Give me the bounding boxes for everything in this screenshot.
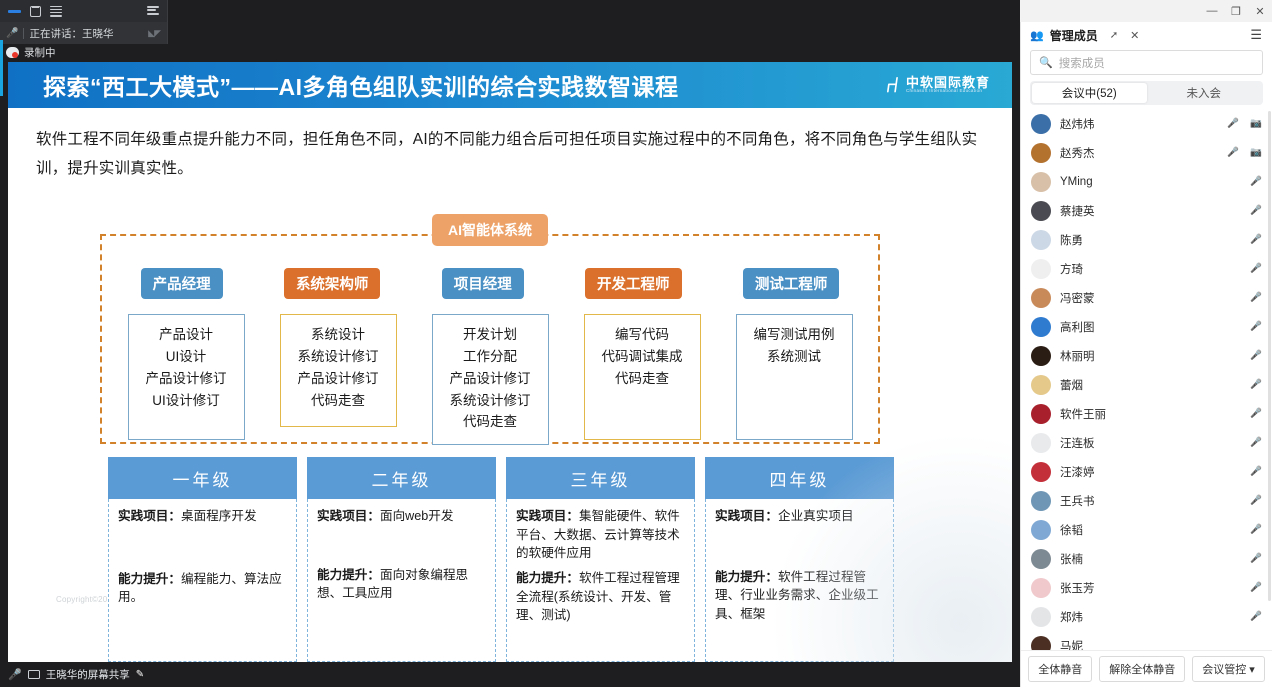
mic-muted-icon[interactable]: 🎤 [1250, 321, 1262, 332]
task-item: 系统设计 [285, 324, 392, 346]
member-name: 王兵书 [1060, 493, 1095, 509]
avatar [1031, 114, 1051, 134]
panel-footer: 全体静音解除全体静音会议管控 ▾ [1021, 650, 1272, 687]
task-item: 系统设计修订 [285, 346, 392, 368]
grade-ability-label: 能力提升： [516, 571, 579, 585]
member-status-icons: 🎤📷 [1227, 118, 1262, 129]
member-name: 郑炜 [1060, 609, 1083, 625]
grade-project-line: 实践项目：企业真实项目 [715, 507, 884, 526]
member-name: 赵炜炜 [1060, 116, 1095, 132]
member-name: 陈勇 [1060, 232, 1083, 248]
mic-muted-icon[interactable]: 🎤 [1250, 524, 1262, 535]
panel-menu-icon[interactable]: ☰ [1250, 27, 1262, 43]
mic-muted-icon[interactable]: 🎤 [1250, 437, 1262, 448]
annotate-pencil-icon[interactable]: ✎ [136, 669, 144, 680]
avatar [1031, 201, 1051, 221]
task-item: 开发计划 [437, 324, 544, 346]
panel-title: 管理成员 [1050, 27, 1098, 44]
avatar [1031, 375, 1051, 395]
task-item: 产品设计修订 [285, 368, 392, 390]
member-list-item[interactable]: 赵炜炜🎤📷 [1021, 109, 1272, 138]
mic-muted-icon[interactable]: 🎤 [1250, 292, 1262, 303]
slide-paragraph: 软件工程不同年级重点提升能力不同，担任角色不同，AI的不同能力组合后可担任项目实… [36, 126, 984, 183]
member-name: 冯密蒙 [1060, 290, 1095, 306]
grade-spacer [715, 532, 884, 568]
avatar [1031, 288, 1051, 308]
mic-muted-icon[interactable]: 🎤 [1250, 611, 1262, 622]
task-item: 代码走查 [589, 368, 696, 390]
panel-header: 👥 管理成员 ➚ ✕ ☰ [1021, 22, 1272, 48]
role-task-box: 系统设计系统设计修订产品设计修订代码走查 [280, 314, 397, 427]
grade-project-line: 实践项目：面向web开发 [317, 507, 486, 526]
member-status-icons: 🎤 [1250, 524, 1262, 535]
grade-card-body: 实践项目：面向web开发能力提升：面向对象编程思想、工具应用 [307, 499, 496, 662]
member-name: 方琦 [1060, 261, 1083, 277]
panel-tab[interactable]: 会议中(52) [1032, 83, 1147, 103]
window-mode-icon[interactable] [30, 6, 41, 17]
member-name: 高利图 [1060, 319, 1095, 335]
recording-indicator[interactable]: 录制中 [6, 45, 56, 60]
member-list-item[interactable]: YMing🎤 [1021, 167, 1272, 196]
panel-tab[interactable]: 未入会 [1147, 83, 1262, 103]
grade-ability-label: 能力提升： [118, 572, 181, 586]
member-name: 赵秀杰 [1060, 145, 1095, 161]
member-list-item[interactable]: 汪漆婷🎤 [1021, 457, 1272, 486]
role-task-row: 产品设计UI设计产品设计修订UI设计修订系统设计系统设计修订产品设计修订代码走查… [102, 314, 878, 445]
member-name: YMing [1060, 176, 1093, 188]
members-panel: 👥 管理成员 ➚ ✕ ☰ 🔍 搜索成员 会议中(52)未入会 赵炜炜🎤📷赵秀杰🎤… [1020, 22, 1272, 687]
member-list-item[interactable]: 高利图🎤 [1021, 312, 1272, 341]
mic-muted-icon[interactable]: 🎤 [1250, 582, 1262, 593]
member-name: 蕾烟 [1060, 377, 1083, 393]
record-dot-icon [6, 47, 19, 58]
mic-muted-icon[interactable]: 🎤 [1250, 553, 1262, 564]
task-item: 编写测试用例 [741, 324, 848, 346]
slide-header: 探索“西工大模式”——AI多角色组队实训的综合实践数智课程 ⑁ 中软国际教育 C… [8, 62, 1012, 108]
search-placeholder: 搜索成员 [1059, 55, 1105, 71]
grade-spacer [317, 532, 486, 566]
grade-card: 一年级实践项目：桌面程序开发能力提升：编程能力、算法应用。 [108, 457, 297, 662]
grade-ability-line: 能力提升：软件工程过程管理、行业业务需求、企业级工具、框架 [715, 568, 884, 624]
member-list-item[interactable]: 林丽明🎤 [1021, 341, 1272, 370]
grade-project-value: 桌面程序开发 [181, 509, 257, 523]
member-list[interactable]: 赵炜炜🎤📷赵秀杰🎤📷YMing🎤蔡捷英🎤陈勇🎤方琦🎤冯密蒙🎤高利图🎤林丽明🎤蕾烟… [1021, 109, 1272, 650]
member-name: 张楠 [1060, 551, 1083, 567]
avatar [1031, 636, 1051, 651]
mic-muted-icon[interactable]: 🎤 [1250, 176, 1262, 187]
grade-card: 四年级实践项目：企业真实项目能力提升：软件工程过程管理、行业业务需求、企业级工具… [705, 457, 894, 662]
avatar [1031, 317, 1051, 337]
popout-icon[interactable]: ➚ [1110, 30, 1118, 41]
member-status-icons: 🎤 [1250, 408, 1262, 419]
role-task-box: 编写代码代码调试集成代码走查 [584, 314, 701, 440]
task-item: 产品设计 [133, 324, 240, 346]
member-list-item[interactable]: 马妮 [1021, 631, 1272, 650]
grade-ability-label: 能力提升： [715, 570, 778, 584]
role-chip: 产品经理 [141, 268, 223, 299]
brand-name-cn: 中软国际教育 [906, 76, 990, 90]
app-root: 腾讯会议 — ❐ ✕ 🎤 正在讲话：王晓华 ◣◤ 录制中 探索“西工大 [0, 0, 1272, 687]
task-item: 系统测试 [741, 346, 848, 368]
role-task-box: 产品设计UI设计产品设计修订UI设计修订 [128, 314, 245, 440]
screen-share-status-bar: 🎤 王晓华的屏幕共享 ✎ [0, 662, 1020, 687]
mic-muted-icon[interactable]: 🎤 [1250, 466, 1262, 477]
member-name: 张玉芳 [1060, 580, 1095, 596]
close-button[interactable]: ✕ [1248, 0, 1272, 22]
member-list-item[interactable]: 汪连板🎤 [1021, 428, 1272, 457]
camera-off-icon[interactable]: 📷 [1250, 147, 1262, 158]
copyright-watermark: Copyright©20 [56, 595, 107, 604]
role-chip: 项目经理 [442, 268, 524, 299]
member-name: 蔡捷英 [1060, 203, 1095, 219]
search-input[interactable]: 🔍 搜索成员 [1030, 50, 1263, 75]
avatar [1031, 433, 1051, 453]
member-name: 林丽明 [1060, 348, 1095, 364]
mic-muted-icon[interactable]: 🎤 [1250, 263, 1262, 274]
window-controls: — ❐ ✕ [1200, 0, 1272, 22]
mic-muted-icon[interactable]: 🎤 [1250, 408, 1262, 419]
grade-spacer [118, 532, 287, 570]
task-item: 代码走查 [437, 411, 544, 433]
member-status-icons: 🎤📷 [1227, 147, 1262, 158]
grade-project-line: 实践项目：桌面程序开发 [118, 507, 287, 526]
panel-footer-button[interactable]: 会议管控 ▾ [1192, 656, 1265, 682]
grade-ability-line: 能力提升：软件工程过程管理全流程(系统设计、开发、管理、测试) [516, 569, 685, 625]
task-item: 系统设计修订 [437, 390, 544, 412]
meeting-toolbar [0, 0, 168, 22]
close-panel-icon[interactable]: ✕ [1130, 29, 1139, 42]
grade-project-value: 企业真实项目 [778, 509, 854, 523]
brand-name-en: Chinasoft International Education [906, 89, 990, 94]
member-name: 软件王丽 [1060, 406, 1106, 422]
member-status-icons: 🎤 [1250, 292, 1262, 303]
shared-screen-slide: 探索“西工大模式”——AI多角色组队实训的综合实践数智课程 ⑁ 中软国际教育 C… [8, 62, 1012, 662]
panel-tabs: 会议中(52)未入会 [1030, 81, 1263, 105]
grade-card-body: 实践项目：集智能硬件、软件平台、大数据、云计算等技术的软硬件应用能力提升：软件工… [506, 499, 695, 662]
grade-card: 二年级实践项目：面向web开发能力提升：面向对象编程思想、工具应用 [307, 457, 496, 662]
role-chip: 开发工程师 [585, 268, 682, 299]
screen-share-icon[interactable] [28, 670, 40, 679]
grade-project-label: 实践项目： [118, 509, 181, 523]
recording-label: 录制中 [24, 45, 56, 60]
member-list-item[interactable]: 郑炜🎤 [1021, 602, 1272, 631]
member-status-icons: 🎤 [1250, 176, 1262, 187]
camera-off-icon[interactable]: 📷 [1250, 118, 1262, 129]
active-speaker-label: 正在讲话：王晓华 [29, 26, 113, 41]
member-status-icons: 🎤 [1250, 553, 1262, 564]
avatar [1031, 143, 1051, 163]
avatar [1031, 520, 1051, 540]
member-list-item[interactable]: 蕾烟🎤 [1021, 370, 1272, 399]
avatar [1031, 607, 1051, 627]
task-item: 代码走查 [285, 390, 392, 412]
minimize-dash-icon[interactable] [8, 10, 21, 13]
member-status-icons: 🎤 [1250, 205, 1262, 216]
member-status-icons: 🎤 [1250, 234, 1262, 245]
avatar [1031, 491, 1051, 511]
grade-card-title: 三年级 [506, 457, 695, 499]
grade-ability-label: 能力提升： [317, 568, 380, 582]
mic-muted-icon[interactable]: 🎤 [1250, 205, 1262, 216]
avatar [1031, 230, 1051, 250]
grade-card-body: 实践项目：企业真实项目能力提升：软件工程过程管理、行业业务需求、企业级工具、框架 [705, 499, 894, 662]
grade-project-label: 实践项目： [715, 509, 778, 523]
microphone-icon: 🎤 [6, 28, 18, 39]
panel-footer-button[interactable]: 全体静音 [1028, 656, 1092, 682]
member-status-icons: 🎤 [1250, 321, 1262, 332]
task-item: UI设计 [133, 346, 240, 368]
member-list-item[interactable]: 王兵书🎤 [1021, 486, 1272, 515]
mic-status-icon[interactable]: 🎤 [8, 668, 22, 681]
member-status-icons: 🎤 [1250, 495, 1262, 506]
role-chip: 系统架构师 [284, 268, 381, 299]
member-list-item[interactable]: 冯密蒙🎤 [1021, 283, 1272, 312]
screen-share-label: 王晓华的屏幕共享 [46, 667, 130, 682]
grade-card: 三年级实践项目：集智能硬件、软件平台、大数据、云计算等技术的软硬件应用能力提升：… [506, 457, 695, 662]
grade-project-line: 实践项目：集智能硬件、软件平台、大数据、云计算等技术的软硬件应用 [516, 507, 685, 563]
avatar [1031, 172, 1051, 192]
mic-muted-icon[interactable]: 🎤 [1227, 118, 1239, 129]
grade-project-label: 实践项目： [317, 509, 380, 523]
role-chip: 测试工程师 [743, 268, 840, 299]
member-name: 汪漆婷 [1060, 464, 1095, 480]
avatar [1031, 462, 1051, 482]
mic-muted-icon[interactable]: 🎤 [1227, 147, 1239, 158]
member-name: 徐韬 [1060, 522, 1083, 538]
search-icon: 🔍 [1039, 56, 1053, 69]
task-item: 编写代码 [589, 324, 696, 346]
audio-wave-icon: ◣◤ [148, 28, 160, 39]
role-task-box: 编写测试用例系统测试 [736, 314, 853, 440]
member-list-item[interactable]: 赵秀杰🎤📷 [1021, 138, 1272, 167]
role-task-box: 开发计划工作分配产品设计修订系统设计修订代码走查 [432, 314, 549, 445]
grade-card-title: 四年级 [705, 457, 894, 499]
member-list-item[interactable]: 方琦🎤 [1021, 254, 1272, 283]
panel-footer-button[interactable]: 解除全体静音 [1099, 656, 1185, 682]
avatar [1031, 259, 1051, 279]
role-chip-row: 产品经理系统架构师项目经理开发工程师测试工程师 [102, 268, 878, 299]
member-name: 马妮 [1060, 638, 1083, 651]
member-list-item[interactable]: 张玉芳🎤 [1021, 573, 1272, 602]
panel-accent-stripe [0, 40, 3, 96]
task-item: 代码调试集成 [589, 346, 696, 368]
meeting-shell: 🎤 正在讲话：王晓华 ◣◤ 录制中 探索“西工大模式”——AI多角色组队实训的综… [0, 0, 1020, 687]
member-status-icons: 🎤 [1250, 437, 1262, 448]
member-status-icons: 🎤 [1250, 466, 1262, 477]
search-area: 🔍 搜索成员 [1021, 48, 1272, 81]
task-item: 工作分配 [437, 346, 544, 368]
member-name: 汪连板 [1060, 435, 1095, 451]
member-status-icons: 🎤 [1250, 350, 1262, 361]
ai-agent-system-zone: AI智能体系统 产品经理系统架构师项目经理开发工程师测试工程师 产品设计UI设计… [100, 234, 880, 444]
task-item: 产品设计修订 [437, 368, 544, 390]
member-list-item[interactable]: 张楠🎤 [1021, 544, 1272, 573]
layout-options-icon[interactable] [147, 6, 159, 17]
grade-card-title: 一年级 [108, 457, 297, 499]
list-view-icon[interactable] [50, 6, 62, 17]
grade-ability-line: 能力提升：面向对象编程思想、工具应用 [317, 566, 486, 603]
avatar [1031, 578, 1051, 598]
divider [23, 28, 24, 39]
mic-muted-icon[interactable]: 🎤 [1250, 379, 1262, 390]
grade-card-row: 一年级实践项目：桌面程序开发能力提升：编程能力、算法应用。二年级实践项目：面向w… [108, 457, 898, 662]
mic-muted-icon[interactable]: 🎤 [1250, 234, 1262, 245]
active-speaker-bar: 🎤 正在讲话：王晓华 ◣◤ [0, 22, 168, 44]
grade-project-value: 面向web开发 [380, 509, 453, 523]
avatar [1031, 404, 1051, 424]
member-status-icons: 🎤 [1250, 611, 1262, 622]
avatar [1031, 346, 1051, 366]
brand-mark-icon: ⑁ [885, 75, 901, 96]
slide-title: 探索“西工大模式”——AI多角色组队实训的综合实践数智课程 [43, 68, 679, 102]
ai-system-badge: AI智能体系统 [432, 214, 548, 246]
task-item: 产品设计修订 [133, 368, 240, 390]
mic-muted-icon[interactable]: 🎤 [1250, 350, 1262, 361]
brand-logo: ⑁ 中软国际教育 Chinasoft International Educati… [886, 75, 990, 96]
member-list-item[interactable]: 陈勇🎤 [1021, 225, 1272, 254]
minimize-button[interactable]: — [1200, 0, 1224, 22]
member-list-item[interactable]: 徐韬🎤 [1021, 515, 1272, 544]
grade-project-label: 实践项目： [516, 509, 579, 523]
grade-card-body: 实践项目：桌面程序开发能力提升：编程能力、算法应用。 [108, 499, 297, 662]
member-list-item[interactable]: 蔡捷英🎤 [1021, 196, 1272, 225]
member-status-icons: 🎤 [1250, 379, 1262, 390]
mic-muted-icon[interactable]: 🎤 [1250, 495, 1262, 506]
member-status-icons: 🎤 [1250, 263, 1262, 274]
grade-card-title: 二年级 [307, 457, 496, 499]
member-status-icons: 🎤 [1250, 582, 1262, 593]
people-icon: 👥 [1030, 29, 1044, 42]
member-list-item[interactable]: 软件王丽🎤 [1021, 399, 1272, 428]
maximize-button[interactable]: ❐ [1224, 0, 1248, 22]
avatar [1031, 549, 1051, 569]
task-item: UI设计修订 [133, 390, 240, 412]
grade-ability-line: 能力提升：编程能力、算法应用。 [118, 570, 287, 607]
